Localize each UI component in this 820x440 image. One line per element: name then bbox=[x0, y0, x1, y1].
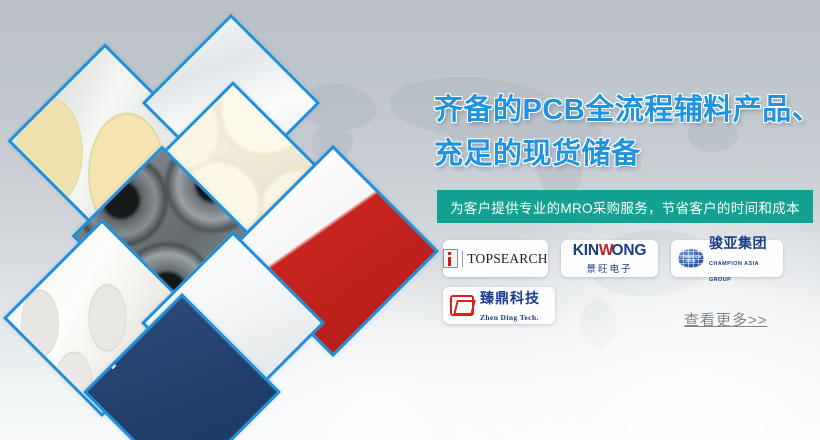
banner-headline: 齐备的PCB全流程辅料产品、 充足的现货储备 bbox=[434, 88, 820, 176]
partner-logo-champion-asia[interactable]: CHAMPION ASIA 骏亚集团 CHAMPION ASIA GROUP bbox=[671, 240, 783, 277]
topsearch-lockup: TOPSEARCH bbox=[443, 249, 547, 268]
kinwong-subtext: 景旺电子 bbox=[586, 264, 632, 275]
product-collage: JIE bbox=[0, 0, 430, 440]
topsearch-i-icon bbox=[443, 249, 458, 268]
champion-asia-en: CHAMPION ASIA GROUP bbox=[709, 261, 759, 283]
view-more-link[interactable]: 查看更多>> bbox=[684, 309, 768, 330]
kinwong-text-w: W bbox=[599, 242, 612, 259]
headline-line-2: 充足的现货储备 bbox=[434, 132, 820, 176]
champion-asia-cn: 骏亚集团 bbox=[709, 235, 767, 251]
zhen-ding-en: Zhen Ding Tech. bbox=[480, 313, 539, 322]
kinwong-wordmark-icon: KINWONG bbox=[573, 242, 646, 259]
zhending-square-icon bbox=[450, 295, 474, 316]
zhen-ding-cn: 臻鼎科技 bbox=[480, 292, 540, 307]
topsearch-wordmark: TOPSEARCH bbox=[462, 251, 547, 267]
champion-asia-text: 骏亚集团 CHAMPION ASIA GROUP bbox=[709, 233, 776, 285]
partner-logo-topsearch[interactable]: TOPSEARCH bbox=[443, 240, 548, 277]
partner-logo-zhen-ding[interactable]: 臻鼎科技 Zhen Ding Tech. bbox=[443, 287, 555, 324]
kinwong-text-b: ONG bbox=[612, 242, 647, 259]
globe-label: CHAMPION ASIA bbox=[678, 255, 704, 263]
kinwong-lockup: KINWONG 景旺电子 bbox=[568, 242, 651, 276]
zhen-ding-lockup: 臻鼎科技 Zhen Ding Tech. bbox=[450, 288, 548, 324]
partner-logo-kinwong[interactable]: KINWONG 景旺电子 bbox=[561, 240, 658, 277]
promo-banner: JIE 齐备的PCB全流程辅料产品、 充足的现货储备 为客户提供专业的MRO采购… bbox=[0, 0, 820, 440]
globe-icon: CHAMPION ASIA bbox=[678, 249, 704, 268]
headline-line-1: 齐备的PCB全流程辅料产品、 bbox=[434, 88, 820, 132]
banner-subtitle-bar: 为客户提供专业的MRO采购服务，节省客户的时间和成本 bbox=[437, 190, 813, 223]
zhen-ding-text: 臻鼎科技 Zhen Ding Tech. bbox=[480, 288, 548, 324]
banner-subtitle-text: 为客户提供专业的MRO采购服务，节省客户的时间和成本 bbox=[450, 197, 800, 217]
champion-asia-lockup: CHAMPION ASIA 骏亚集团 CHAMPION ASIA GROUP bbox=[678, 233, 776, 285]
partner-logo-row-1: TOPSEARCH KINWONG 景旺电子 CHAMPION ASIA 骏亚集… bbox=[443, 240, 813, 277]
kinwong-text-a: KIN bbox=[573, 242, 599, 259]
